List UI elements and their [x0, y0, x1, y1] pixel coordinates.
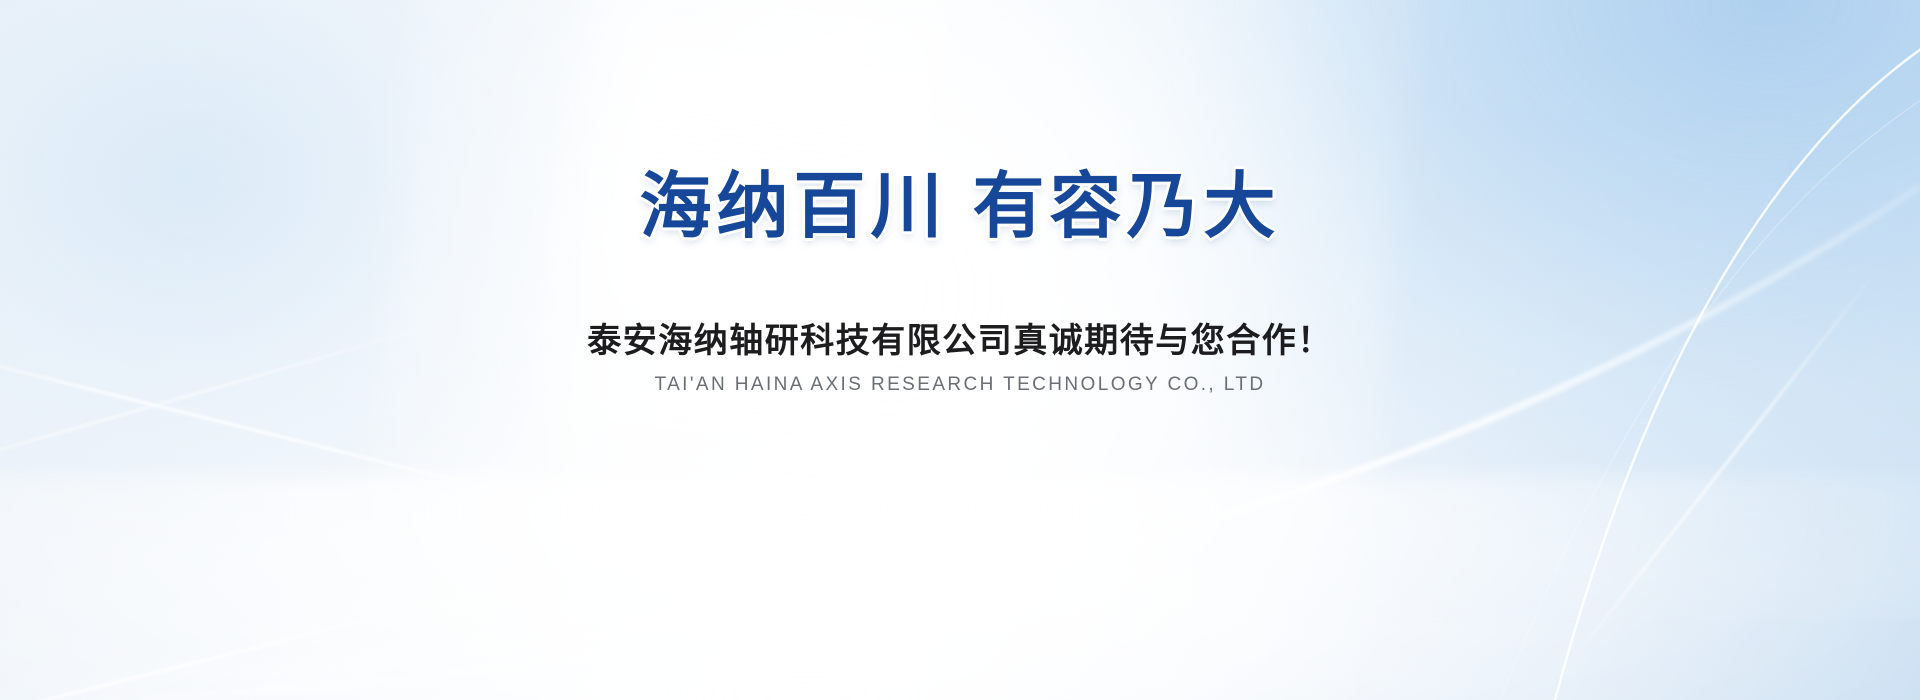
banner-subtitle: 泰安海纳轴研科技有限公司真诚期待与您合作！ — [587, 313, 1333, 362]
hero-banner: 海纳百川 有容乃大 泰安海纳轴研科技有限公司真诚期待与您合作！ TAI'AN H… — [0, 0, 1920, 700]
banner-subtitle-english: TAI'AN HAINA AXIS RESEARCH TECHNOLOGY CO… — [655, 374, 1266, 396]
banner-headline: 海纳百川 有容乃大 — [639, 170, 1280, 246]
banner-content: 海纳百川 有容乃大 泰安海纳轴研科技有限公司真诚期待与您合作！ TAI'AN H… — [0, 0, 1920, 700]
